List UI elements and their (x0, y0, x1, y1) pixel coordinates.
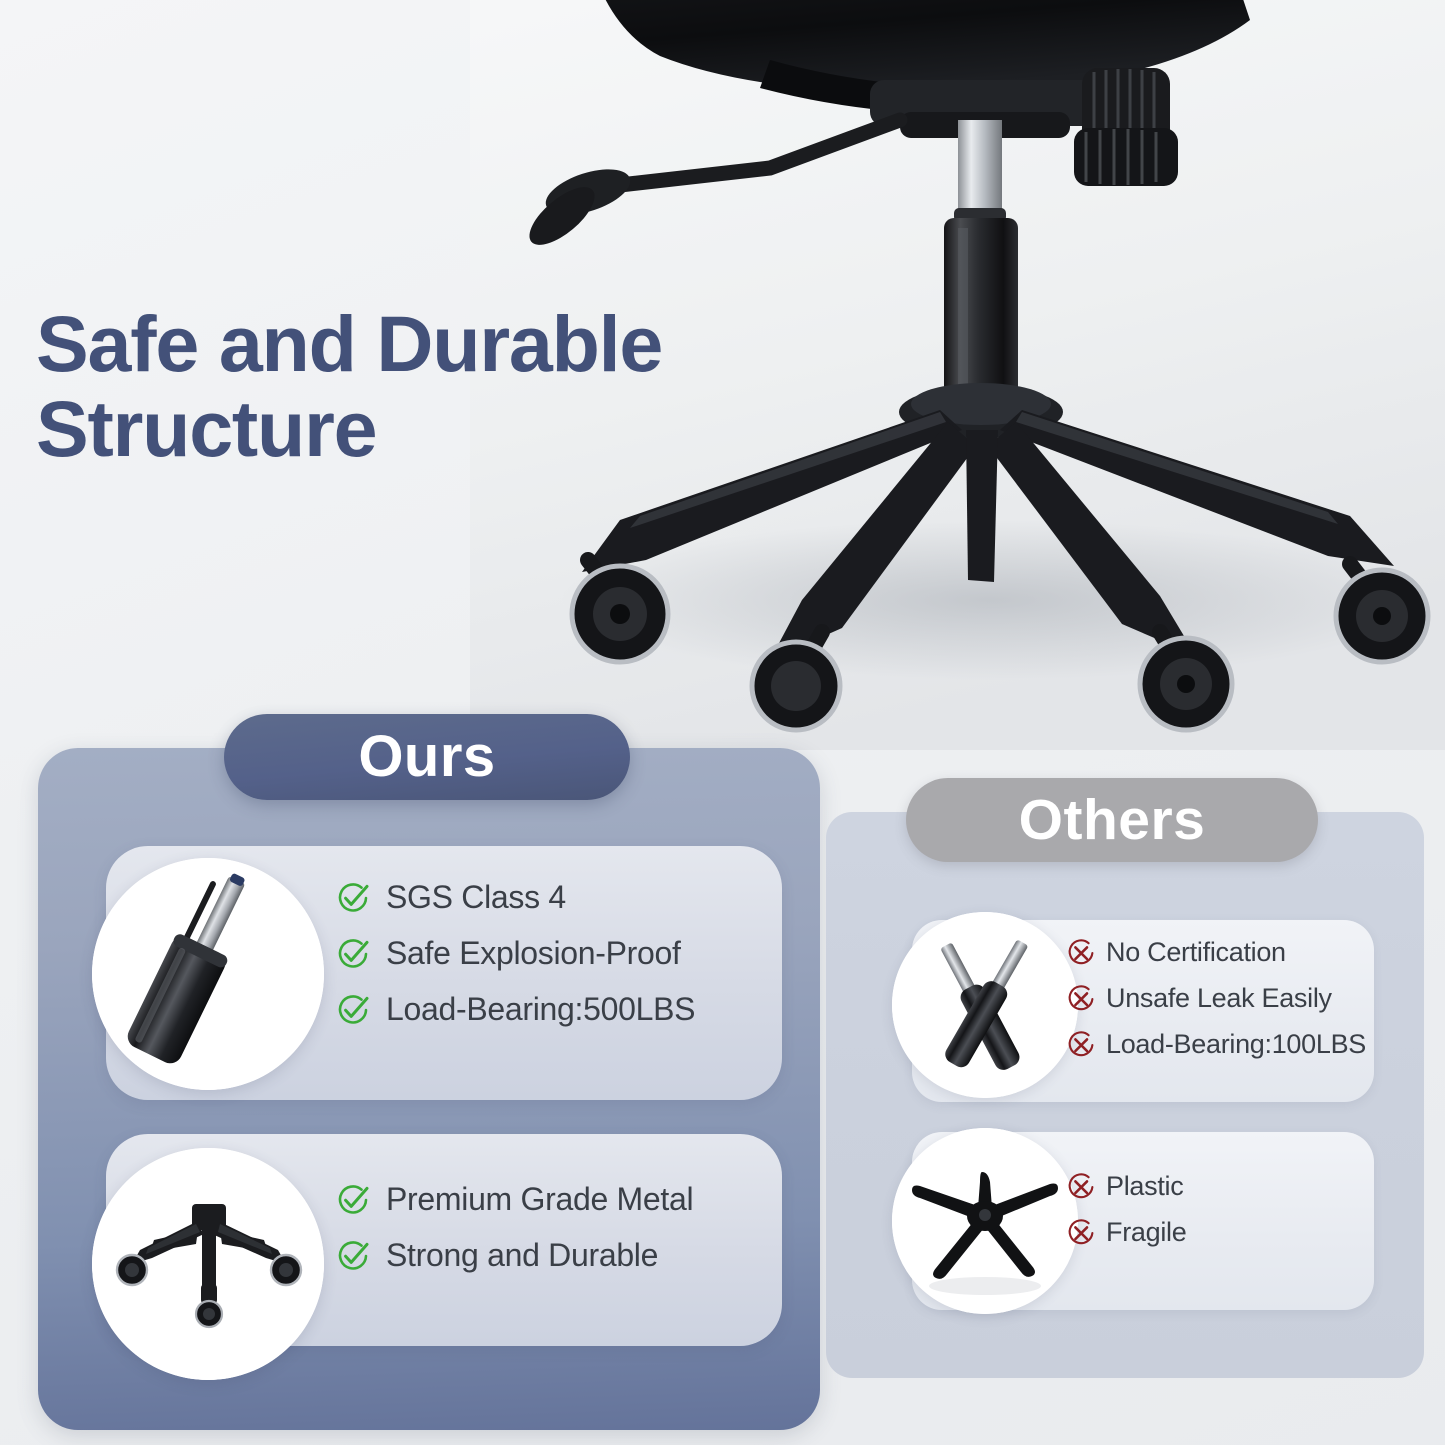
feature-label: Plastic (1106, 1172, 1183, 1202)
feature-item: Safe Explosion-Proof (336, 936, 695, 971)
feature-item: Fragile (1066, 1218, 1186, 1248)
feature-item: No Certification (1066, 938, 1366, 968)
ours-metal-base-photo (92, 1148, 324, 1380)
cross-circle-icon (1066, 1030, 1096, 1060)
feature-label: Load-Bearing:100LBS (1106, 1030, 1366, 1060)
feature-item: Unsafe Leak Easily (1066, 984, 1366, 1014)
cross-circle-icon (1066, 984, 1096, 1014)
others-crossed-cylinders-photo (892, 912, 1078, 1098)
infographic-canvas: Safe and Durable Structure Ours (0, 0, 1445, 1445)
page-title-line-1: Safe and Durable (36, 299, 662, 388)
feature-label: Unsafe Leak Easily (1106, 984, 1332, 1014)
ours-badge: Ours (224, 714, 630, 800)
others-feature-list: No Certification Unsafe Leak Easily Lo (1066, 938, 1366, 1060)
cross-circle-icon (1066, 1172, 1096, 1202)
feature-item: Load-Bearing:500LBS (336, 992, 695, 1027)
feature-label: Load-Bearing:500LBS (386, 992, 695, 1027)
feature-label: No Certification (1106, 938, 1286, 968)
check-circle-icon (336, 993, 370, 1027)
page-title: Safe and Durable Structure (36, 301, 856, 472)
check-circle-icon (336, 937, 370, 971)
others-plastic-base-photo (892, 1128, 1078, 1314)
check-circle-icon (336, 1239, 370, 1273)
feature-item: SGS Class 4 (336, 880, 695, 915)
feature-item: Premium Grade Metal (336, 1182, 693, 1217)
check-circle-icon (336, 1183, 370, 1217)
ours-feature-list: Premium Grade Metal Strong and Durable (336, 1182, 693, 1273)
feature-label: Premium Grade Metal (386, 1182, 693, 1217)
ours-gas-cylinder-photo (92, 858, 324, 1090)
page-title-line-2: Structure (36, 386, 856, 471)
ours-feature-list: SGS Class 4 Safe Explosion-Proof Load-Be… (336, 880, 695, 1028)
others-badge-label: Others (1019, 792, 1206, 849)
feature-label: Safe Explosion-Proof (386, 936, 681, 971)
feature-item: Plastic (1066, 1172, 1186, 1202)
cross-circle-icon (1066, 938, 1096, 968)
feature-label: SGS Class 4 (386, 880, 566, 915)
others-badge: Others (906, 778, 1318, 862)
feature-item: Strong and Durable (336, 1238, 693, 1273)
feature-item: Load-Bearing:100LBS (1066, 1030, 1366, 1060)
ours-badge-label: Ours (358, 728, 495, 786)
cross-circle-icon (1066, 1218, 1096, 1248)
feature-label: Fragile (1106, 1218, 1186, 1248)
feature-label: Strong and Durable (386, 1238, 658, 1273)
others-feature-list: Plastic Fragile (1066, 1172, 1186, 1248)
check-circle-icon (336, 881, 370, 915)
